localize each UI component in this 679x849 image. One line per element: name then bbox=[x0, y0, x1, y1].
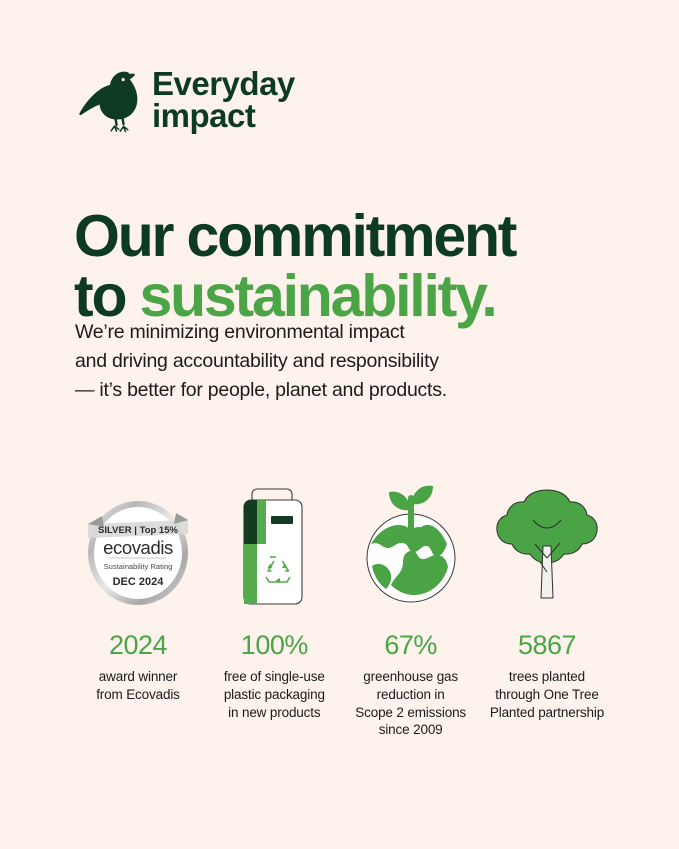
sustainability-poster: Everyday impact Our commitment to sustai… bbox=[0, 0, 679, 849]
stat-caption-line: trees planted bbox=[490, 668, 604, 686]
intro-paragraph: We’re minimizing environmental impact an… bbox=[75, 318, 545, 405]
stat-value: 2024 bbox=[109, 632, 167, 659]
stat-item-ecovadis: SILVER | Top 15% ecovadis Sustainability… bbox=[70, 468, 206, 704]
stat-caption-line: Scope 2 emissions bbox=[355, 704, 466, 722]
intro-line-1: We’re minimizing environmental impact bbox=[75, 318, 545, 347]
stat-item-packaging: 100% free of single-use plastic packagin… bbox=[206, 468, 342, 721]
stat-caption-line: in new products bbox=[224, 704, 325, 722]
stat-caption-line: free of single-use bbox=[224, 668, 325, 686]
brand-logo: Everyday impact bbox=[78, 64, 295, 136]
recyclable-packaging-icon bbox=[230, 484, 318, 610]
stat-caption: free of single-use plastic packaging in … bbox=[224, 668, 325, 721]
stat-caption: trees planted through One Tree Planted p… bbox=[490, 668, 604, 721]
globe-sprout-icon bbox=[357, 470, 465, 610]
stat-caption-line: greenhouse gas bbox=[355, 668, 466, 686]
page-title: Our commitment to sustainability. bbox=[74, 206, 634, 328]
stat-icon-wrapper bbox=[495, 468, 599, 610]
bird-icon bbox=[78, 64, 140, 136]
badge-wordmark: ecovadis bbox=[103, 537, 173, 558]
intro-line-3: — it’s better for people, planet and pro… bbox=[75, 376, 545, 405]
stat-caption: award winner from Ecovadis bbox=[96, 668, 180, 704]
intro-line-2: and driving accountability and responsib… bbox=[75, 347, 545, 376]
stat-caption-line: through One Tree bbox=[490, 686, 604, 704]
stat-icon-wrapper bbox=[357, 468, 465, 610]
stats-row: SILVER | Top 15% ecovadis Sustainability… bbox=[70, 468, 615, 739]
brand-name-line2: impact bbox=[152, 100, 295, 132]
stat-caption-line: Planted partnership bbox=[490, 704, 604, 722]
brand-wordmark: Everyday impact bbox=[152, 68, 295, 132]
stat-item-emissions: 67% greenhouse gas reduction in Scope 2 … bbox=[343, 468, 479, 739]
stat-caption: greenhouse gas reduction in Scope 2 emis… bbox=[355, 668, 466, 739]
tree-icon bbox=[495, 480, 599, 610]
stat-icon-wrapper: SILVER | Top 15% ecovadis Sustainability… bbox=[82, 468, 194, 610]
brand-name-line1: Everyday bbox=[152, 68, 295, 100]
headline-line1: Our commitment bbox=[74, 203, 515, 269]
stat-caption-line: from Ecovadis bbox=[96, 686, 180, 704]
stat-caption-line: since 2009 bbox=[355, 721, 466, 739]
stat-caption-line: reduction in bbox=[355, 686, 466, 704]
stat-value: 5867 bbox=[518, 632, 576, 659]
stat-caption-line: plastic packaging bbox=[224, 686, 325, 704]
ecovadis-medal-icon: SILVER | Top 15% ecovadis Sustainability… bbox=[82, 494, 194, 610]
stat-caption-line: award winner bbox=[96, 668, 180, 686]
badge-subtitle: Sustainability Rating bbox=[104, 562, 173, 571]
stat-value: 100% bbox=[241, 632, 308, 659]
stat-value: 67% bbox=[384, 632, 437, 659]
badge-ribbon-text: SILVER | Top 15% bbox=[98, 525, 178, 536]
badge-date: DEC 2024 bbox=[113, 576, 165, 588]
stat-icon-wrapper bbox=[230, 468, 318, 610]
stat-item-trees: 5867 trees planted through One Tree Plan… bbox=[479, 468, 615, 721]
